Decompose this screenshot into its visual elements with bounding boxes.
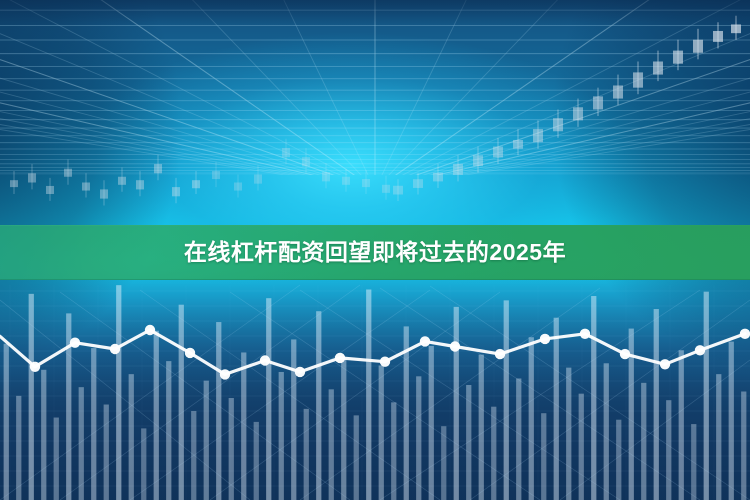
top-edge-shade [0, 0, 750, 26]
title-band: 在线杠杆配资回望即将过去的2025年 [0, 225, 750, 280]
band-bottom-hairline [0, 279, 750, 280]
stock-banner-image: 在线杠杆配资回望即将过去的2025年 [0, 0, 750, 500]
page-title: 在线杠杆配资回望即将过去的2025年 [184, 241, 566, 264]
